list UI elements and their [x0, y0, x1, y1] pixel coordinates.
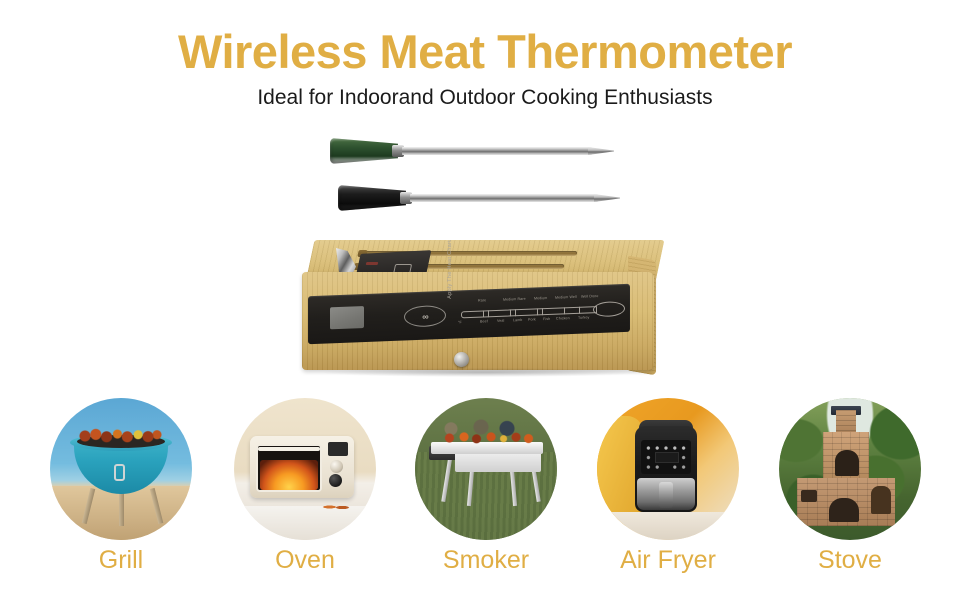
- thermometer-base: ∞ Apply The Heat Chart °F Rare Medium Ra…: [302, 240, 662, 385]
- counter-surface: [597, 512, 739, 540]
- chart-scale-start: °F: [458, 320, 462, 324]
- thermometer-bar: [461, 306, 597, 318]
- use-case-air-fryer[interactable]: Air Fryer: [597, 398, 739, 540]
- page-subtitle: Ideal for Indoorand Outdoor Cooking Enth…: [0, 86, 970, 110]
- probe-green-handle: [330, 138, 398, 164]
- heat-chart-graphic: °F Rare Medium Rare Medium Medium Well W…: [461, 300, 626, 322]
- chart-top-label: Medium Well: [555, 295, 577, 300]
- probe-black-handle: [338, 185, 406, 211]
- probe-black-tip: [594, 194, 620, 202]
- chart-tick: [488, 310, 489, 317]
- chart-top-label: Medium Rare: [503, 297, 526, 302]
- probe-black-shaft: [410, 194, 598, 202]
- use-case-stove[interactable]: Stove: [779, 398, 921, 540]
- charge-indicator-light: [366, 262, 379, 265]
- chart-top-label: Well Done: [581, 294, 598, 299]
- probe-black: [338, 183, 623, 213]
- smoker-food: [437, 431, 541, 445]
- oven-photo: [234, 398, 376, 540]
- chart-bottom-label: Veal: [497, 319, 504, 323]
- chart-top-label: Medium: [534, 296, 547, 301]
- chart-tick: [510, 309, 511, 316]
- countertop: [234, 506, 376, 540]
- storage-door: [871, 486, 891, 514]
- grill-leg: [119, 490, 124, 526]
- chart-bottom-label: Turkey: [578, 315, 589, 319]
- chart-bottom-label: Pork: [528, 317, 536, 321]
- stove-photo: [779, 398, 921, 540]
- oven-knob: [330, 460, 343, 473]
- oven-interior-glow: [260, 460, 318, 490]
- oven-digital-panel: [328, 442, 348, 456]
- oven-knob: [329, 474, 342, 487]
- probe-green-tip: [588, 147, 614, 155]
- product-banner: Wireless Meat Thermometer Ideal for Indo…: [0, 0, 970, 600]
- use-case-row: Grill Oven: [0, 398, 970, 600]
- chart-bottom-label: Chicken: [556, 316, 570, 321]
- chart-bottom-label: Beef: [480, 319, 488, 323]
- chart-tick: [537, 308, 538, 315]
- chart-top-label: Rare: [478, 298, 486, 302]
- lower-firebox-opening: [829, 498, 859, 522]
- grilled-meat: [76, 428, 166, 444]
- oven-food: [320, 502, 352, 512]
- side-vent: [801, 490, 817, 502]
- grill-handle: [114, 464, 125, 481]
- probe-green: [330, 136, 615, 166]
- chart-tick: [483, 310, 484, 317]
- use-case-grill[interactable]: Grill: [50, 398, 192, 540]
- air-fryer-display: [655, 452, 679, 463]
- thermometer-bulb: [593, 301, 625, 317]
- brand-logo-badge: ∞: [404, 305, 446, 328]
- product-shadow: [322, 368, 642, 377]
- screw-icon: [454, 352, 469, 367]
- use-case-smoker[interactable]: Smoker: [415, 398, 557, 540]
- probe-green-shaft: [402, 147, 592, 155]
- chart-tick: [542, 308, 543, 315]
- lcd-display: [330, 306, 364, 329]
- chart-bottom-label: Fish: [543, 317, 550, 321]
- chart-tick: [515, 309, 516, 316]
- use-case-label-smoker: Smoker: [390, 546, 582, 575]
- grill-photo: [50, 398, 192, 540]
- use-case-label-stove: Stove: [754, 546, 946, 575]
- air-fryer-photo: [597, 398, 739, 540]
- chart-tick: [579, 307, 580, 314]
- use-case-label-grill: Grill: [25, 546, 217, 575]
- upper-firebox-opening: [835, 450, 859, 476]
- brand-logo-glyph: ∞: [422, 311, 427, 321]
- chart-tick: [564, 307, 565, 314]
- air-fryer-basket-handle: [659, 482, 673, 508]
- heat-chart-label: Apply The Heat Chart: [447, 240, 453, 299]
- use-case-label-oven: Oven: [209, 546, 401, 575]
- chart-bottom-label: Lamb: [513, 318, 522, 322]
- page-title: Wireless Meat Thermometer: [0, 24, 970, 79]
- use-case-label-air-fryer: Air Fryer: [572, 546, 764, 575]
- oven-door-handle: [258, 447, 320, 451]
- use-case-oven[interactable]: Oven: [234, 398, 376, 540]
- smoker-photo: [415, 398, 557, 540]
